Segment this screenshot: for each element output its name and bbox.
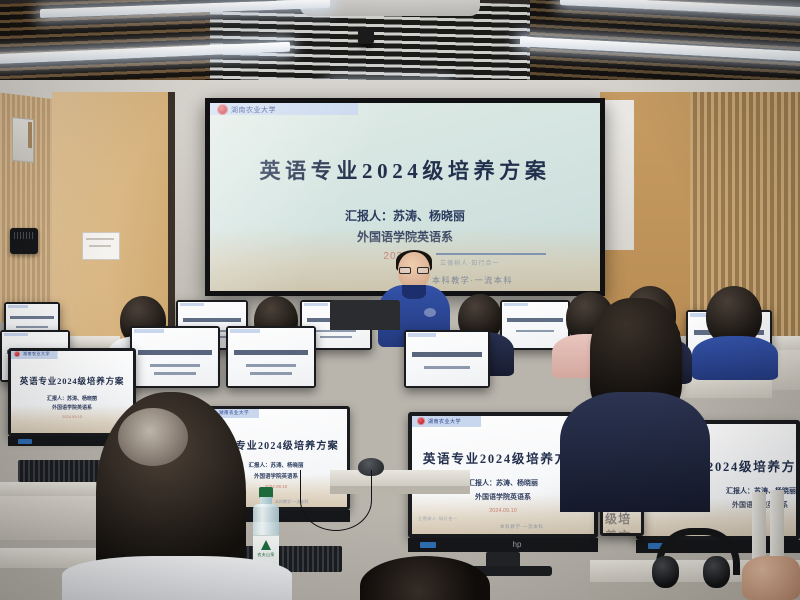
university-emblem-icon bbox=[217, 104, 228, 115]
wall-hook bbox=[28, 122, 32, 148]
headphone-earcup-left bbox=[652, 556, 679, 588]
wall-speaker-icon bbox=[10, 228, 38, 254]
monitor-main-footer-right: 立德树人·知行合一 bbox=[418, 516, 458, 522]
monitor-logo-text: 湖南农业大学 bbox=[428, 418, 461, 425]
wall-board-edge bbox=[604, 100, 634, 250]
lectern bbox=[330, 300, 400, 330]
door-edge bbox=[168, 92, 175, 344]
door-sign-line-1 bbox=[86, 238, 114, 240]
monitor-main-badge bbox=[420, 542, 436, 548]
student-foreground-left-body bbox=[62, 556, 292, 600]
slide-presenter-line: 汇报人：苏涛、杨晓丽 bbox=[210, 207, 600, 224]
university-emblem-icon bbox=[417, 417, 425, 425]
glasses-icon bbox=[399, 267, 429, 274]
slide-rule bbox=[436, 253, 546, 255]
door-sign-line-2 bbox=[89, 245, 111, 247]
student-foreground-right-body bbox=[560, 392, 710, 512]
monitor-main-footer-left: 本科教学·一流本科 bbox=[500, 524, 544, 530]
slide-logo: 湖南农业大学 bbox=[217, 104, 276, 115]
monitor-row1-left-title: 英语专业2024级培养方案 bbox=[11, 375, 133, 387]
ceiling-projector-icon bbox=[358, 28, 374, 44]
monitor-row1-left-badge bbox=[18, 439, 32, 444]
desk-divider-post-1 bbox=[752, 492, 766, 562]
headphones[interactable] bbox=[652, 528, 730, 588]
headphone-earcup-right bbox=[703, 556, 730, 588]
bottle-brand-icon bbox=[261, 540, 271, 550]
slide-logo-text: 湖南农业大学 bbox=[231, 105, 276, 115]
monitor-row2-2[interactable] bbox=[130, 326, 220, 388]
student-foreground-center-head bbox=[360, 556, 490, 600]
monitor-main-bezel bbox=[408, 538, 598, 552]
presenter-collar bbox=[402, 285, 426, 299]
hand bbox=[742, 556, 800, 600]
hair-clip bbox=[118, 408, 188, 466]
hp-logo-icon: hp bbox=[512, 541, 522, 549]
university-emblem-icon bbox=[14, 351, 20, 357]
monitor-row2-3[interactable] bbox=[226, 326, 316, 388]
monitor-logo-text: 湖南农业大学 bbox=[219, 410, 249, 416]
desk-cable bbox=[300, 470, 372, 531]
monitor-row2-4[interactable] bbox=[404, 330, 490, 388]
presenter-shirt-logo bbox=[424, 308, 436, 317]
monitor-logo-text: 湖南农业大学 bbox=[23, 351, 50, 357]
desk-divider-post-2 bbox=[770, 490, 784, 562]
photo-scene: 湖南农业大学 英语专业2024级培养方案 汇报人：苏涛、杨晓丽 外国语学院英语系… bbox=[0, 0, 800, 600]
bottle-brand-text: 农夫山泉 bbox=[253, 552, 279, 558]
student-right-body bbox=[692, 336, 778, 380]
slide-title: 英语专业2024级培养方案 bbox=[210, 155, 600, 185]
monitor-row1-left-presenter: 汇报人：苏涛、杨晓丽 bbox=[11, 395, 133, 402]
